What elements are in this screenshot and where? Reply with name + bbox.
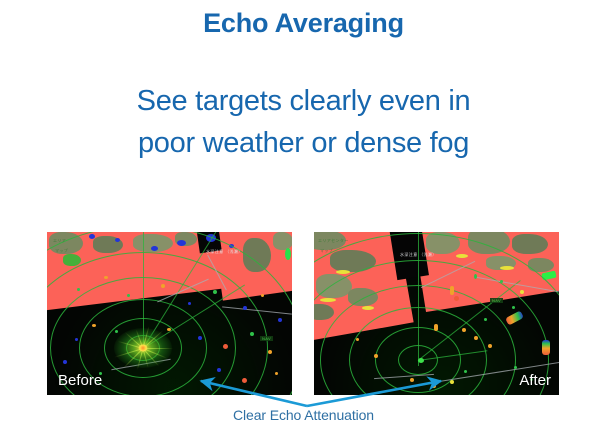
subtitle-line-2: poor weather or dense fog [0, 122, 607, 164]
osd-label-map: マップ [320, 248, 333, 254]
radar-panel-after[interactable]: エリアセンター マップ 水深注意 （浅瀬） NAV After [314, 232, 559, 395]
target-blip [520, 290, 524, 294]
callout-caption: Clear Echo Attenuation [0, 407, 607, 423]
osd-label-map: マップ [55, 248, 68, 254]
panel-label-after: After [519, 372, 551, 389]
target-blip [167, 328, 171, 331]
radar-scene-after: エリアセンター マップ 水深注意 （浅瀬） NAV [314, 232, 559, 395]
target-blip [512, 306, 515, 309]
osd-label-area: エリアセンター [318, 238, 349, 244]
target-blip [104, 276, 108, 279]
target-blip [434, 324, 438, 331]
target-blip [223, 344, 228, 349]
target-blip [432, 384, 436, 388]
target-blip [450, 380, 454, 384]
subtitle: See targets clearly even in poor weather… [0, 80, 607, 164]
radar-panel-before[interactable]: エリア マップ 水深注意 （浅瀬） NAV Before [47, 232, 292, 395]
osd-label-nav: NAV [260, 336, 273, 341]
target-blip [356, 338, 359, 341]
target-blip [188, 302, 191, 305]
target-blip [161, 284, 165, 288]
target-blip [278, 318, 282, 322]
osd-label-depth-warning: 水深注意 （浅瀬） [400, 252, 437, 258]
target-blip [268, 350, 272, 354]
target-blip [474, 336, 478, 340]
radar-scene-before: エリア マップ 水深注意 （浅瀬） NAV [47, 232, 292, 395]
target-blip [198, 336, 202, 340]
own-ship-echo [418, 358, 424, 363]
target-blip [92, 324, 96, 327]
slide-canvas: Echo Averaging See targets clearly even … [0, 0, 607, 448]
target-blip [464, 370, 467, 373]
target-blip [500, 280, 503, 283]
osd-label-depth-warning: 水深注意 （浅瀬） [206, 249, 243, 255]
target-blip [488, 344, 492, 348]
target-blip [213, 290, 217, 294]
target-blip [484, 318, 487, 321]
target-blip [250, 332, 254, 336]
target-blip [127, 294, 130, 297]
weather-speckle [285, 248, 291, 260]
target-blip [474, 274, 477, 279]
target-blip [450, 286, 454, 295]
own-ship-echo [139, 345, 148, 352]
target-blip [410, 378, 414, 382]
target-blip [77, 288, 80, 291]
builtup-patch [273, 232, 292, 250]
target-blip [242, 378, 247, 383]
target-blip [454, 296, 459, 301]
target-blip [374, 354, 378, 358]
target-blip [63, 360, 67, 364]
target-blip [261, 294, 264, 297]
target-blip [243, 306, 247, 310]
target-vessel-echo [542, 340, 550, 355]
osd-label-nav: NAV [490, 298, 503, 303]
osd-label-area: エリア [53, 238, 66, 244]
builtup-patch [512, 234, 548, 254]
panel-label-before: Before [58, 372, 102, 389]
page-title: Echo Averaging [0, 6, 607, 40]
target-blip [275, 372, 278, 375]
target-blip [115, 330, 118, 333]
target-blip [514, 366, 517, 369]
target-blip [462, 328, 466, 332]
target-blip [217, 368, 221, 372]
target-blip [75, 338, 78, 341]
subtitle-line-1: See targets clearly even in [0, 80, 607, 122]
